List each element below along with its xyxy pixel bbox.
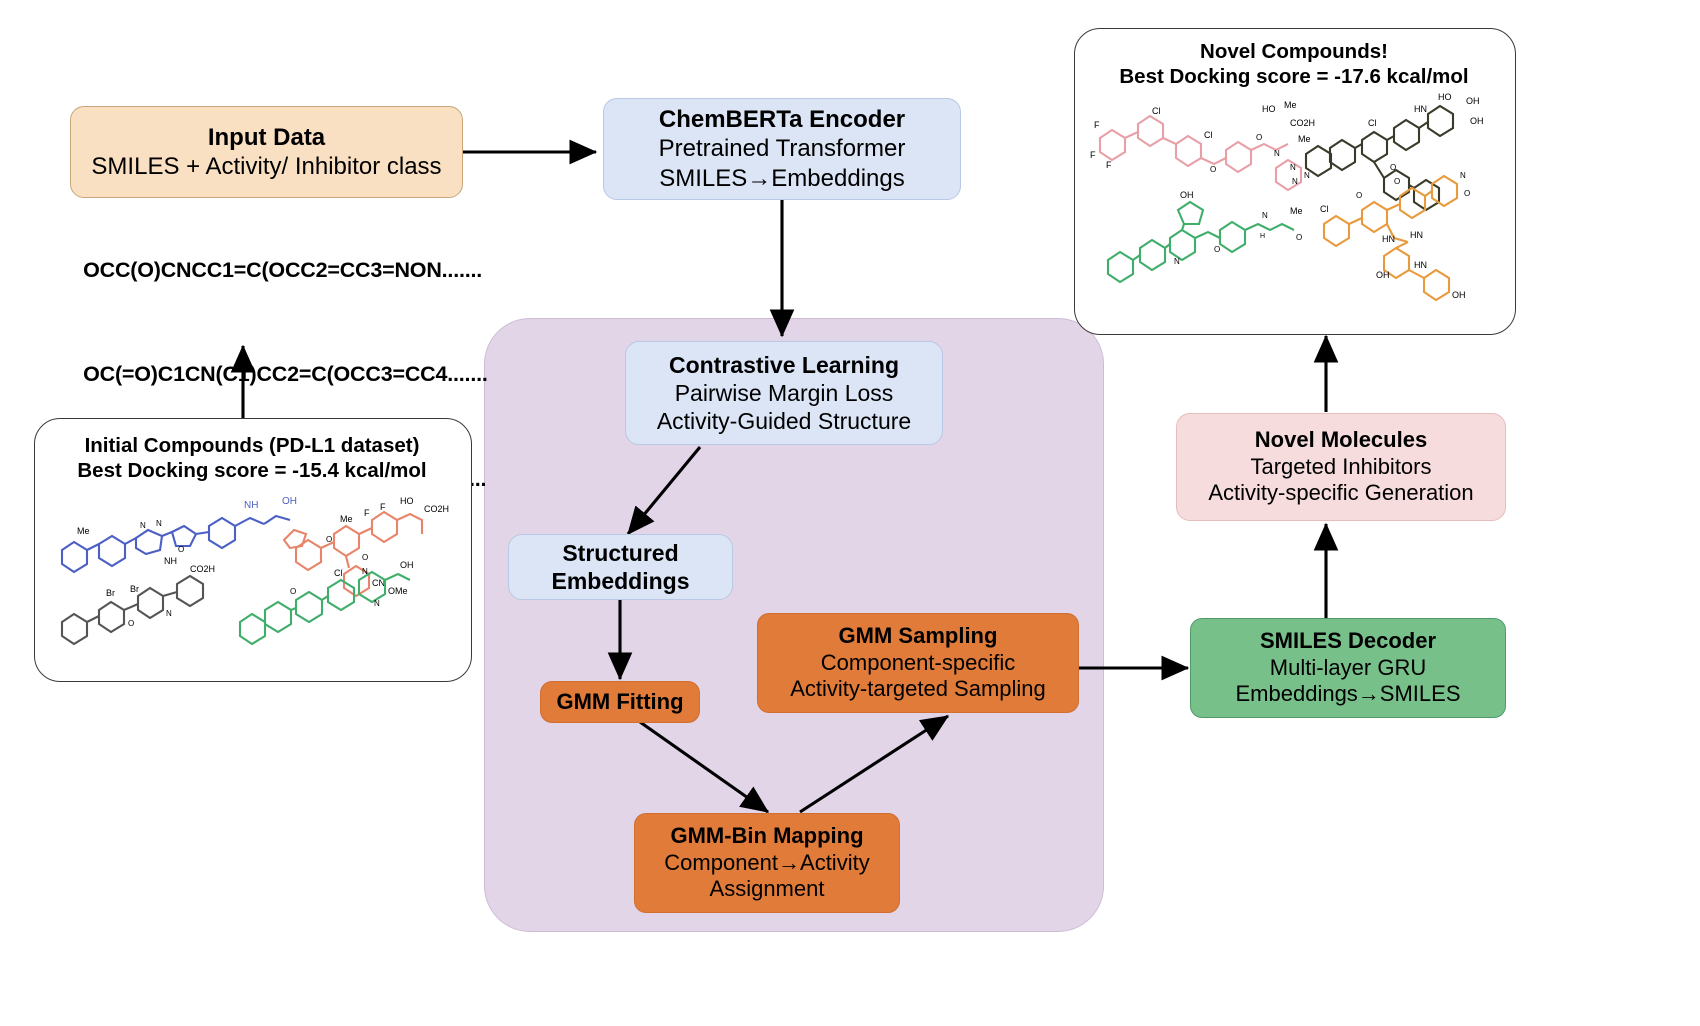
svg-text:F: F <box>1094 120 1100 130</box>
svg-text:Me: Me <box>340 514 353 524</box>
svg-text:N: N <box>374 599 380 608</box>
molecule-blue: NH OH Me NH N N O <box>62 496 297 572</box>
svg-text:O: O <box>1214 245 1220 254</box>
svg-text:N: N <box>1292 177 1298 186</box>
gmm-bin-mapping-title: GMM-Bin Mapping <box>670 823 863 850</box>
svg-text:HN: HN <box>1414 104 1427 114</box>
contrastive-title: Contrastive Learning <box>669 351 899 379</box>
svg-text:O: O <box>1356 191 1362 200</box>
diagram-canvas: Input Data SMILES + Activity/ Inhibitor … <box>0 0 1700 1026</box>
svg-text:Br: Br <box>106 588 115 598</box>
svg-text:Br: Br <box>130 584 139 594</box>
node-input-data: Input Data SMILES + Activity/ Inhibitor … <box>70 106 463 198</box>
gmm-sampling-title: GMM Sampling <box>839 623 998 650</box>
initial-compounds-header: Initial Compounds (PD-L1 dataset) Best D… <box>34 430 470 486</box>
node-gmm-bin-mapping: GMM-Bin Mapping Component→Activity Assig… <box>634 813 900 913</box>
svg-text:O: O <box>326 535 332 544</box>
svg-text:HN: HN <box>1414 260 1427 270</box>
smiles-decoder-line1: Multi-layer GRU <box>1270 655 1426 682</box>
novel-compounds-header: Novel Compounds! Best Docking score = -1… <box>1074 36 1514 92</box>
svg-text:N: N <box>1174 257 1180 266</box>
svg-text:F: F <box>364 508 370 518</box>
novel-compounds-score: Best Docking score = -17.6 kcal/mol <box>1119 64 1468 89</box>
svg-text:OH: OH <box>1376 270 1390 280</box>
svg-text:CO2H: CO2H <box>190 564 215 574</box>
svg-text:Me: Me <box>1290 206 1303 216</box>
molecule-green: Cl OMe OH N N O <box>240 560 414 644</box>
novel-compounds-title: Novel Compounds! <box>1200 39 1388 64</box>
svg-text:Me: Me <box>1298 134 1311 144</box>
initial-compounds-title: Initial Compounds (PD-L1 dataset) <box>85 433 420 458</box>
svg-text:O: O <box>128 619 134 628</box>
novel-molecules-title: Novel Molecules <box>1255 427 1427 454</box>
svg-text:NH: NH <box>164 556 177 566</box>
node-novel-molecules: Novel Molecules Targeted Inhibitors Acti… <box>1176 413 1506 521</box>
gmm-bin-mapping-line1: Component→Activity <box>664 850 869 877</box>
svg-text:Cl: Cl <box>1320 204 1329 214</box>
smiles-decoder-line2: Embeddings→SMILES <box>1236 681 1461 708</box>
smiles-line-1: OCC(O)CNCC1=C(OCC2=CC3=NON....... <box>83 258 482 282</box>
svg-text:OH: OH <box>1470 116 1484 126</box>
structured-title: Structured <box>562 539 678 567</box>
svg-text:N: N <box>140 521 146 530</box>
gmm-fitting-title: GMM Fitting <box>556 689 683 716</box>
svg-text:HO: HO <box>1262 104 1276 114</box>
svg-text:HO: HO <box>1438 92 1452 102</box>
svg-text:OMe: OMe <box>388 586 408 596</box>
svg-text:OH: OH <box>282 496 297 507</box>
novel-compounds-structures: F F F Cl Cl O O HO Me CO2H N N <box>1084 92 1506 324</box>
gmm-sampling-line2: Activity-targeted Sampling <box>790 676 1046 703</box>
svg-text:O: O <box>1296 233 1302 242</box>
gmm-bin-mapping-line2: Assignment <box>710 876 825 903</box>
svg-text:O: O <box>290 587 296 596</box>
svg-text:NH: NH <box>244 500 258 511</box>
svg-text:O: O <box>1464 189 1470 198</box>
node-contrastive-learning: Contrastive Learning Pairwise Margin Los… <box>625 341 943 445</box>
contrastive-line2: Activity-Guided Structure <box>657 407 911 435</box>
molecule-olive: Me Cl HN HO OH OH N N O <box>1290 92 1484 210</box>
svg-text:Cl: Cl <box>1204 130 1213 140</box>
svg-text:CO2H: CO2H <box>424 504 449 514</box>
initial-compounds-structures: NH OH Me NH N N O Me F F <box>44 482 462 674</box>
svg-text:O: O <box>1390 163 1396 172</box>
svg-text:O: O <box>178 545 184 554</box>
svg-text:Cl: Cl <box>1152 106 1161 116</box>
svg-text:F: F <box>380 502 386 512</box>
node-structured-embeddings: Structured Embeddings <box>508 534 733 600</box>
svg-text:N: N <box>1460 171 1466 180</box>
svg-text:N: N <box>1274 149 1280 158</box>
svg-text:HO: HO <box>400 496 414 506</box>
svg-text:Cl: Cl <box>1368 118 1377 128</box>
svg-text:N: N <box>1290 163 1296 172</box>
svg-text:OH: OH <box>1180 190 1194 200</box>
svg-text:F: F <box>1090 150 1096 160</box>
svg-text:N: N <box>166 609 172 618</box>
node-smiles-decoder: SMILES Decoder Multi-layer GRU Embedding… <box>1190 618 1506 718</box>
molecule-green-novel: OH N O N H Me O <box>1108 190 1303 282</box>
molecule-pink: F F F Cl Cl O O HO Me CO2H N N <box>1090 100 1315 190</box>
input-data-title: Input Data <box>208 123 325 152</box>
svg-text:F: F <box>1106 160 1112 170</box>
molecule-orange: Cl O O N O HN HN OH HN OH <box>1320 171 1470 300</box>
chemberta-line2: SMILES→Embeddings <box>659 164 904 193</box>
molecule-gray: Br Br N CO2H O <box>62 564 215 644</box>
svg-text:H: H <box>1260 233 1265 240</box>
svg-text:O: O <box>362 553 368 562</box>
svg-text:OH: OH <box>1466 96 1480 106</box>
svg-text:Cl: Cl <box>334 568 343 578</box>
node-chemberta-encoder: ChemBERTa Encoder Pretrained Transformer… <box>603 98 961 200</box>
svg-text:O: O <box>1394 177 1400 186</box>
svg-text:Me: Me <box>1284 100 1297 110</box>
chemberta-line1: Pretrained Transformer <box>659 134 906 163</box>
svg-text:HN: HN <box>1382 234 1395 244</box>
smiles-decoder-title: SMILES Decoder <box>1260 628 1436 655</box>
node-gmm-fitting: GMM Fitting <box>540 681 700 723</box>
molecule-salmon: Me F F HO CO2H CN O O <box>284 496 449 596</box>
novel-molecules-line1: Targeted Inhibitors <box>1251 454 1432 481</box>
svg-text:CO2H: CO2H <box>1290 118 1315 128</box>
svg-text:O: O <box>1256 133 1262 142</box>
svg-text:Me: Me <box>77 526 90 536</box>
node-gmm-sampling: GMM Sampling Component-specific Activity… <box>757 613 1079 713</box>
svg-text:HN: HN <box>1410 230 1423 240</box>
svg-text:N: N <box>1262 211 1268 220</box>
svg-text:OH: OH <box>400 560 414 570</box>
smiles-line-2: OC(=O)C1CN(C1)CC2=C(OCC3=CC4....... <box>83 362 488 386</box>
contrastive-line1: Pairwise Margin Loss <box>675 379 894 407</box>
svg-text:OH: OH <box>1452 290 1466 300</box>
input-data-subtitle: SMILES + Activity/ Inhibitor class <box>91 152 441 181</box>
initial-compounds-score: Best Docking score = -15.4 kcal/mol <box>77 458 426 483</box>
novel-molecules-line2: Activity-specific Generation <box>1208 480 1473 507</box>
svg-text:O: O <box>1210 165 1216 174</box>
svg-text:N: N <box>1304 171 1310 180</box>
structured-line1: Embeddings <box>551 567 689 595</box>
svg-text:N: N <box>156 519 162 528</box>
svg-text:N: N <box>362 567 368 576</box>
gmm-sampling-line1: Component-specific <box>821 650 1015 677</box>
chemberta-title: ChemBERTa Encoder <box>659 105 905 134</box>
